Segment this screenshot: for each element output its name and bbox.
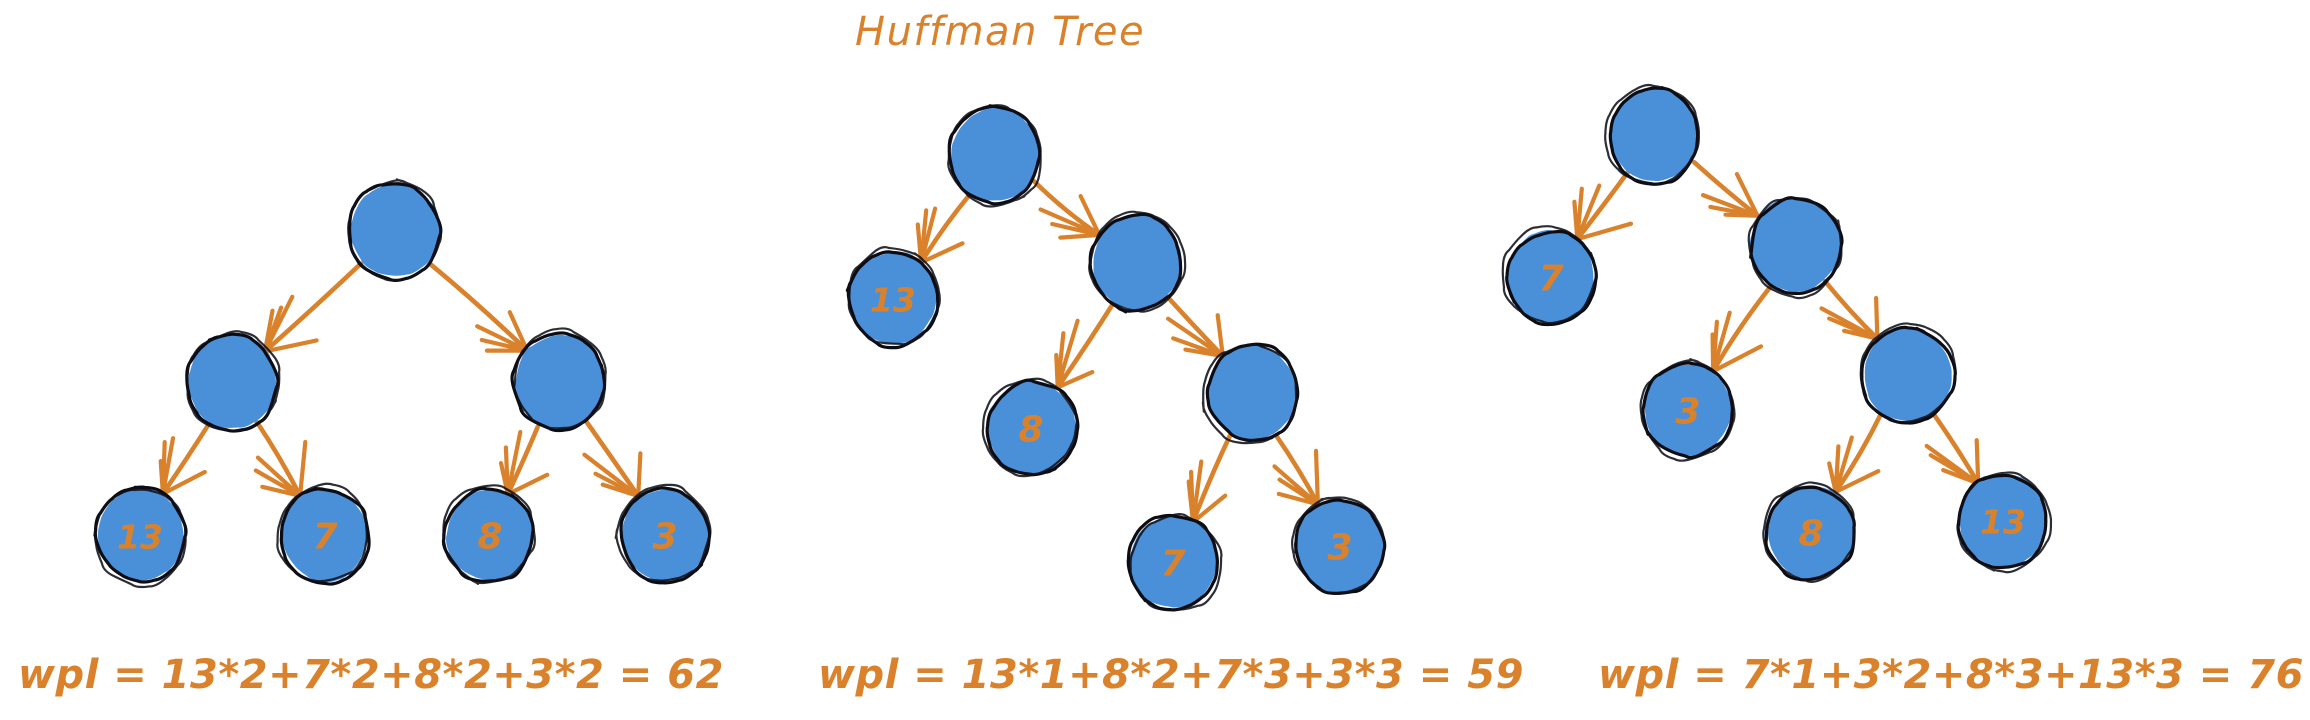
node-weight-label: 8 xyxy=(1018,410,1043,451)
tree-internal-node[interactable] xyxy=(1605,85,1699,184)
arrowhead-icon xyxy=(1726,215,1758,216)
node-fill xyxy=(350,183,441,275)
tree-edge xyxy=(508,427,538,494)
tree-nodes: 73813 xyxy=(1503,85,2051,582)
tree-internal-node[interactable] xyxy=(187,331,279,431)
tree-internal-node[interactable] xyxy=(348,179,441,280)
node-weight-label: 13 xyxy=(117,518,163,557)
arrowhead-icon xyxy=(1060,235,1099,238)
whiteboard-canvas: 137831387373813 Huffman Tree wpl = 13*2+… xyxy=(0,0,2310,720)
tree-leaf-node[interactable]: 13 xyxy=(847,247,939,347)
tree-internal-node[interactable] xyxy=(1861,323,1956,423)
tree-internal-node[interactable] xyxy=(1203,344,1298,443)
tree-leaf-node[interactable]: 3 xyxy=(1292,498,1385,594)
tree-edge xyxy=(1577,171,1628,239)
tree-nodes: 13873 xyxy=(847,105,1385,610)
arrowhead-icon xyxy=(1977,440,1979,483)
tree-internal-node[interactable] xyxy=(1089,212,1185,312)
huffman-diagram-svg: 137831387373813 Huffman Tree wpl = 13*2+… xyxy=(0,0,2310,720)
tree-leaf-node[interactable]: 3 xyxy=(616,485,711,583)
node-weight-label: 7 xyxy=(312,517,337,558)
wpl-formula-layer: wpl = 13*2+7*2+8*2+3*2 = 62wpl = 13*1+8*… xyxy=(18,652,2304,698)
node-weight-label: 3 xyxy=(1675,392,1700,433)
wpl-formula: wpl = 7*1+3*2+8*3+13*3 = 76 xyxy=(1598,652,2304,698)
tree-leaf-node[interactable]: 8 xyxy=(1763,482,1854,581)
node-weight-label: 7 xyxy=(1160,544,1185,585)
arrowhead-icon xyxy=(1713,335,1714,372)
tree-leaf-node[interactable]: 8 xyxy=(983,379,1078,476)
arrowhead-icon xyxy=(1927,446,1979,484)
wpl-formula: wpl = 13*1+8*2+7*3+3*3 = 59 xyxy=(818,652,1524,698)
tree-leaf-node[interactable]: 13 xyxy=(1957,473,2051,573)
arrowhead-icon xyxy=(1876,298,1877,339)
tree-leaf-node[interactable]: 3 xyxy=(1641,359,1735,461)
wpl-formula: wpl = 13*2+7*2+8*2+3*2 = 62 xyxy=(18,652,724,698)
arrowhead-icon xyxy=(300,442,305,496)
node-weight-label: 8 xyxy=(477,517,502,558)
tree-edge xyxy=(586,421,639,497)
tree-edge xyxy=(431,264,528,350)
tree-internal-node[interactable] xyxy=(948,105,1040,206)
node-weight-label: 13 xyxy=(1980,503,2026,542)
arrowhead-icon xyxy=(638,453,640,496)
arrowhead-icon xyxy=(1574,202,1577,239)
tree-leaf-node[interactable]: 7 xyxy=(1128,514,1221,610)
tree-nodes: 13783 xyxy=(94,179,710,587)
node-weight-label: 8 xyxy=(1798,514,1823,555)
node-weight-label: 13 xyxy=(870,281,916,320)
tree-edge xyxy=(1825,281,1877,339)
tree-leaf-node[interactable]: 13 xyxy=(94,487,186,587)
tree-leaf-node[interactable]: 7 xyxy=(1503,226,1597,324)
tree-leaf-node[interactable]: 8 xyxy=(443,485,534,584)
node-weight-label: 3 xyxy=(652,517,677,558)
arrowhead-icon xyxy=(1056,355,1057,387)
tree-leaf-node[interactable]: 7 xyxy=(277,484,369,584)
arrowhead-icon xyxy=(161,461,163,494)
arrowhead-icon xyxy=(1316,451,1318,504)
node-weight-label: 7 xyxy=(1538,259,1563,300)
node-weight-label: 3 xyxy=(1327,528,1352,569)
page-title: Huffman Tree xyxy=(855,9,1145,55)
